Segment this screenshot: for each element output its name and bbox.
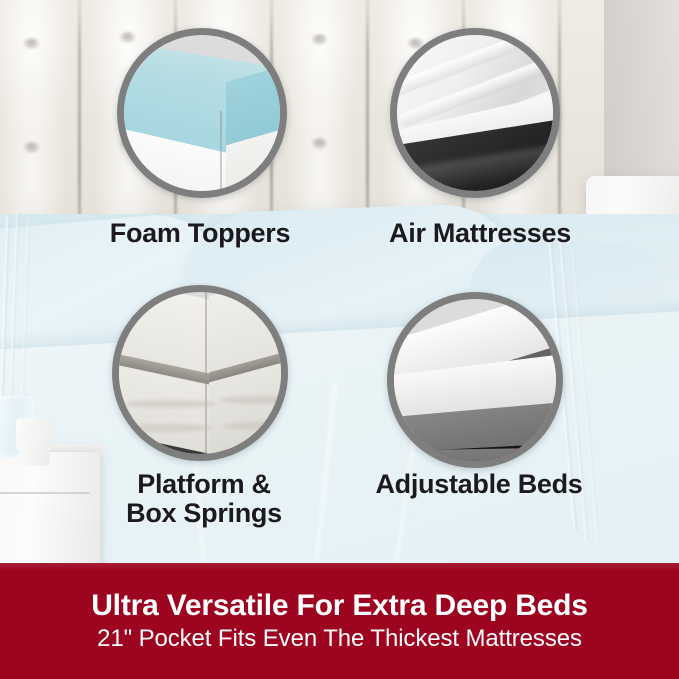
feature-label-air-mattresses: Air Mattresses	[335, 219, 625, 248]
banner-headline: Ultra Versatile For Extra Deep Beds	[91, 589, 588, 622]
feature-label-platform-box-springs: Platform & Box Springs	[58, 470, 350, 528]
feature-circle-foam-toppers[interactable]	[117, 28, 287, 198]
promo-banner: Ultra Versatile For Extra Deep Beds 21" …	[0, 563, 679, 679]
feature-label-foam-toppers: Foam Toppers	[60, 219, 340, 248]
banner-subheadline: 21" Pocket Fits Even The Thickest Mattre…	[97, 626, 582, 652]
air-mattress-icon	[397, 35, 553, 191]
foam-topper-icon	[124, 35, 280, 191]
feature-circle-adjustable-beds[interactable]	[387, 292, 563, 468]
box-spring-icon	[119, 292, 281, 454]
feature-circle-platform-box-springs[interactable]	[112, 285, 288, 461]
adjustable-bed-icon	[394, 299, 556, 461]
feature-label-adjustable-beds: Adjustable Beds	[332, 470, 626, 499]
feature-circle-air-mattresses[interactable]	[390, 28, 560, 198]
banner-top-sheen	[0, 563, 679, 571]
infographic-canvas: Foam Toppers Air Mattresses	[0, 0, 679, 679]
small-box-lower	[20, 444, 50, 466]
